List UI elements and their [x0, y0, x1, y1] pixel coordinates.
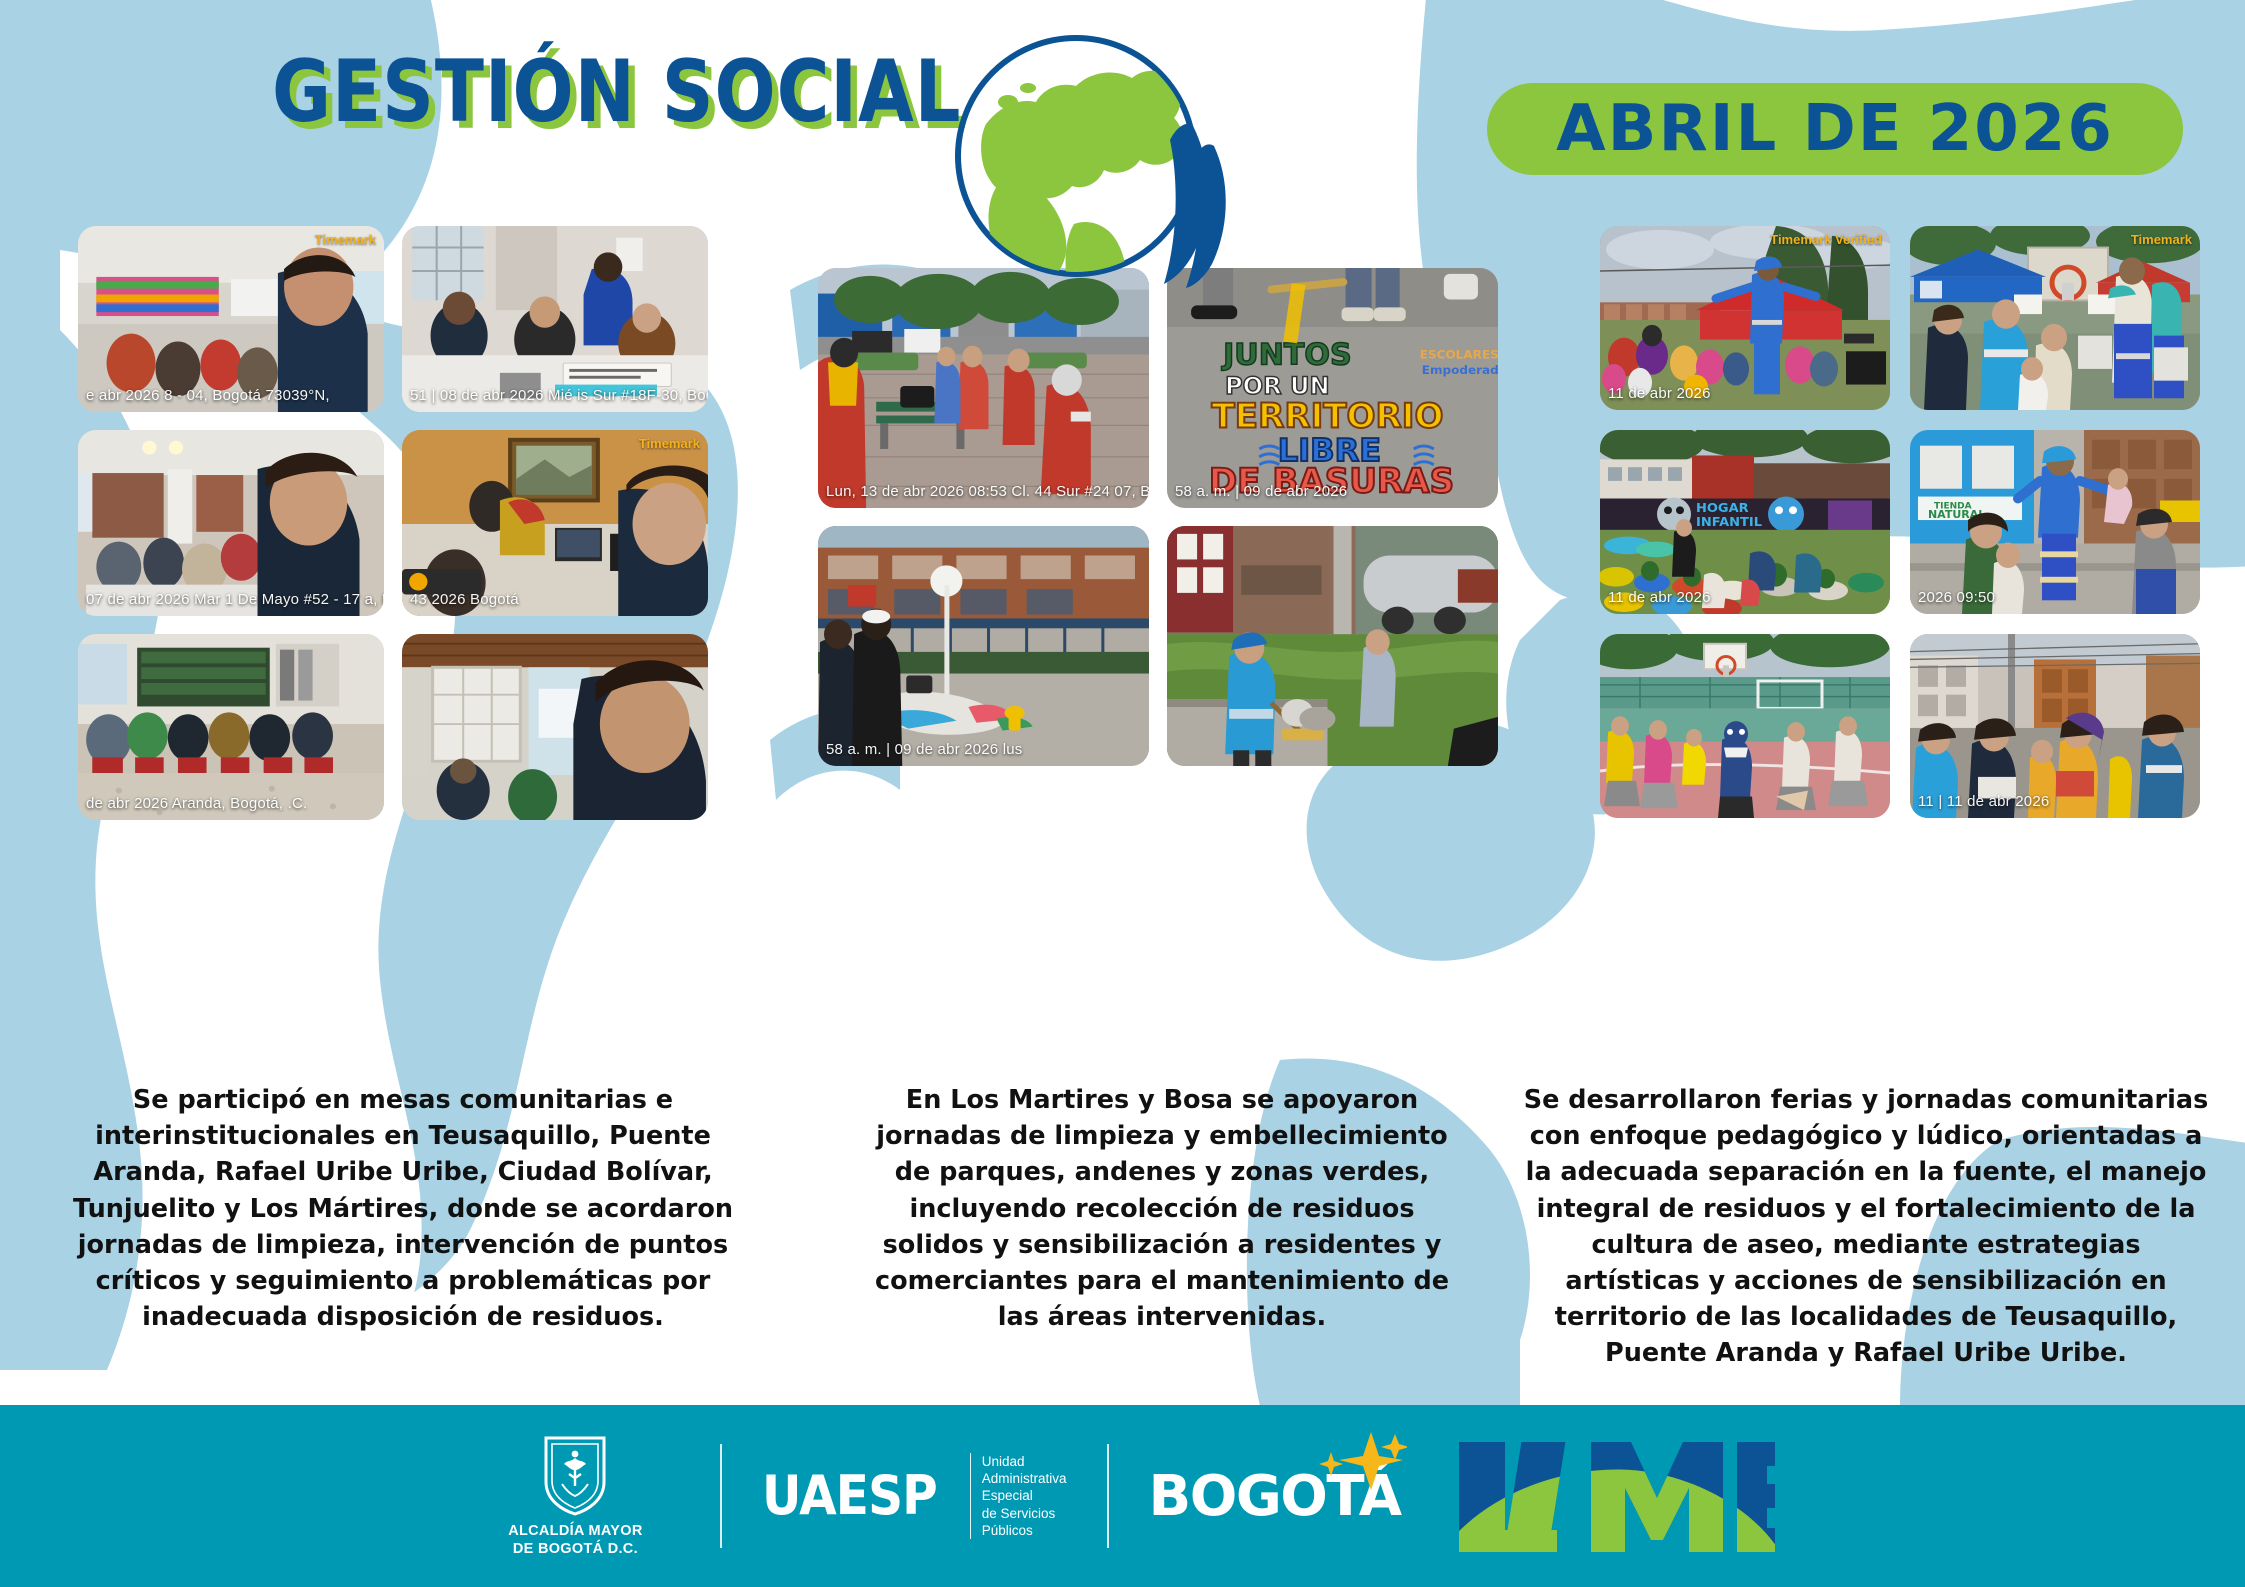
alcaldia-label: ALCALDÍA MAYOR DE BOGOTÁ D.C.	[508, 1523, 642, 1558]
caption-right: Se desarrollaron ferias y jornadas comun…	[1520, 1082, 2212, 1372]
photo-timestamp: 11 de abr 2026	[1608, 385, 1711, 402]
month-badge: ABRIL DE 2026	[1487, 83, 2183, 175]
photo-mural-territorio-libre-basuras[interactable]: JUNTOS POR UN TERRITORIO LIBRE DE BASURA…	[1167, 268, 1498, 508]
photo-mural-hogar-infantil-huerta[interactable]: HOGAR INFANTIL	[1600, 430, 1890, 614]
uaesp-sub-line1: Unidad	[982, 1453, 1067, 1470]
photo-image	[1600, 634, 1890, 818]
photo-jornada-ludica-cancha[interactable]	[1600, 634, 1890, 818]
photo-timestamp: e abr 2026 8 - 04, Bogotá 73039°N,	[86, 387, 330, 404]
footer-logos: ALCALDÍA MAYOR DE BOGOTÁ D.C. UAESP Unid…	[470, 1432, 1774, 1560]
photo-feria-zanquero-carpa-roja[interactable]: Timemark Verified 11 de abr 2026	[1600, 226, 1890, 410]
uaesp-sub-line4: de Servicios	[982, 1505, 1067, 1522]
stars-icon	[1315, 1430, 1407, 1492]
photo-image: JUNTOS POR UN TERRITORIO LIBRE DE BASURA…	[1167, 268, 1498, 508]
photo-grid-right: Timemark Verified 11 de abr 2026	[1600, 226, 2200, 818]
footer-divider-2	[1107, 1444, 1109, 1548]
photo-image: TIENDA NATURAL	[1910, 430, 2200, 614]
photo-timestamp: 43 2026 Bogotá	[410, 591, 519, 608]
photo-grid-left: Timemark e abr 2026 8 - 04, Bogotá 73039…	[78, 226, 708, 820]
column-left: Timemark e abr 2026 8 - 04, Bogotá 73039…	[78, 226, 708, 820]
photo-zanquero-calle-ninos[interactable]: TIENDA NATURAL	[1910, 430, 2200, 614]
footer-bar: ALCALDÍA MAYOR DE BOGOTÁ D.C. UAESP Unid…	[0, 1405, 2245, 1587]
uaesp-subtitle: Unidad Administrativa Especial de Servic…	[970, 1453, 1067, 1539]
photo-image	[1600, 226, 1890, 410]
uaesp-sub-line5: Públicos	[982, 1522, 1067, 1539]
alcaldia-line1: ALCALDÍA MAYOR	[508, 1523, 642, 1541]
photo-image	[78, 430, 384, 616]
uaesp-sub-line3: Especial	[982, 1487, 1067, 1504]
photo-watermark: Timemark	[639, 436, 700, 451]
page-title: GESTIÓN SOCIAL	[272, 42, 886, 142]
photo-image	[402, 430, 708, 616]
photo-image	[402, 226, 708, 412]
caption-left: Se participó en mesas comunitarias e int…	[72, 1082, 734, 1335]
photo-timestamp: 58 a. m. | 09 de abr 2026	[1175, 483, 1347, 500]
svg-text:ESCOLARES: ESCOLARES	[1420, 348, 1498, 362]
photo-timestamp: 11 | 11 de abr 2026	[1918, 793, 2049, 810]
svg-text:Empoderados: Empoderados	[1422, 363, 1498, 377]
photo-timestamp: 58 a. m. | 09 de abr 2026 lus	[826, 741, 1023, 758]
photo-timestamp: 11 de abr 2026	[1608, 589, 1711, 606]
photo-image	[78, 226, 384, 412]
photo-reunion-salon-selfie[interactable]: 07 de abr 2026 Mar 1 De Mayo #52 - 17 a,…	[78, 430, 384, 616]
column-right: Timemark Verified 11 de abr 2026	[1600, 226, 2200, 818]
photo-image	[1167, 526, 1498, 766]
photo-operario-recoleccion-residuos[interactable]	[1167, 526, 1498, 766]
title-block: GESTIÓN SOCIAL	[272, 42, 932, 152]
logo-lime	[1445, 1432, 1775, 1560]
photo-jornada-limpieza-parque[interactable]: Lun, 13 de abr 2026 08:53 Cl. 44 Sur #24…	[818, 268, 1149, 508]
photo-reunion-policia-mesa[interactable]: 51 | 08 de abr 2026 Mié is Sur #18F-30, …	[402, 226, 708, 412]
photo-feria-stand-familias[interactable]: Timemark	[1910, 226, 2200, 410]
globe-leaf-icon	[948, 28, 1248, 288]
logo-bogota: BOGOTÁ	[1149, 1464, 1401, 1529]
alcaldia-line2: DE BOGOTÁ D.C.	[508, 1541, 642, 1559]
uaesp-acronym: UAESP	[762, 1464, 937, 1527]
photo-mesa-trabajo-portatiles[interactable]: Timemark 43 2026 Bogotá	[402, 430, 708, 616]
photo-timestamp: Lun, 13 de abr 2026 08:53 Cl. 44 Sur #24…	[826, 483, 1149, 500]
photo-image	[818, 268, 1149, 508]
photo-sensibilizacion-calle-grupo[interactable]: 11 | 11 de abr 2026	[1910, 634, 2200, 818]
poster-header: GESTIÓN SOCIAL ABRIL DE 2026	[0, 0, 2245, 240]
photo-image	[1910, 226, 2200, 410]
caption-middle: En Los Martires y Bosa se apoyaron jorna…	[862, 1082, 1462, 1335]
logo-uaesp: UAESP Unidad Administrativa Especial de …	[762, 1453, 1066, 1539]
svg-text:INFANTIL: INFANTIL	[1696, 515, 1762, 530]
photo-timestamp: 51 | 08 de abr 2026 Mié is Sur #18F-30, …	[410, 387, 708, 404]
footer-divider-1	[720, 1444, 722, 1548]
bogota-shield-icon	[542, 1434, 608, 1516]
svg-text:HOGAR: HOGAR	[1696, 501, 1749, 516]
photo-image	[78, 634, 384, 820]
photo-grid-middle: Lun, 13 de abr 2026 08:53 Cl. 44 Sur #24…	[818, 268, 1498, 766]
uaesp-sub-line2: Administrativa	[982, 1470, 1067, 1487]
lime-logo-icon	[1445, 1432, 1775, 1560]
photo-image	[818, 526, 1149, 766]
photo-timestamp: 07 de abr 2026 Mar 1 De Mayo #52 - 17 a,…	[86, 591, 384, 608]
photo-timestamp: 2026 09:50	[1918, 589, 1995, 606]
photo-image: HOGAR INFANTIL	[1600, 430, 1890, 614]
globe-icon-svg	[948, 28, 1248, 288]
photo-image	[1910, 634, 2200, 818]
logo-alcaldia-mayor: ALCALDÍA MAYOR DE BOGOTÁ D.C.	[470, 1434, 680, 1558]
photo-reunion-institucional-sillas[interactable]: de abr 2026 Aranda, Bogotá, .C.	[78, 634, 384, 820]
photo-mesa-comunitaria-selfie[interactable]: Timemark e abr 2026 8 - 04, Bogotá 73039…	[78, 226, 384, 412]
photo-pintura-mural-anden[interactable]: 58 a. m. | 09 de abr 2026 lus	[818, 526, 1149, 766]
svg-text:JUNTOS: JUNTOS	[1221, 338, 1352, 373]
photo-timestamp: de abr 2026 Aranda, Bogotá, .C.	[86, 795, 307, 812]
photo-mesa-policia-selfie[interactable]	[402, 634, 708, 820]
column-middle: Lun, 13 de abr 2026 08:53 Cl. 44 Sur #24…	[818, 226, 1498, 766]
month-badge-label: ABRIL DE 2026	[1556, 92, 2114, 166]
svg-text:TERRITORIO: TERRITORIO	[1212, 397, 1444, 436]
photo-image	[402, 634, 708, 820]
